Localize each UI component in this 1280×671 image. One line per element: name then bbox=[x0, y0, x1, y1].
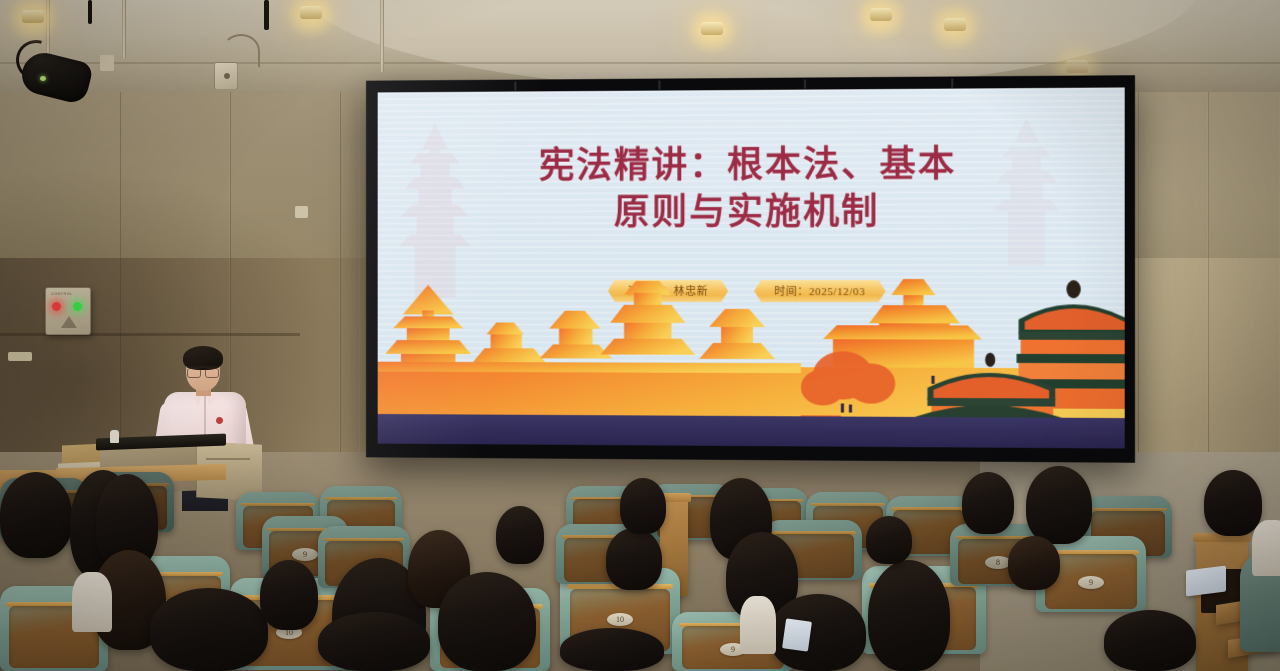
seat-number: 10 bbox=[607, 613, 633, 626]
slide-title: 宪法精讲：根本法、基本 原则与实施机制 bbox=[378, 140, 1125, 236]
hanging-rod-2 bbox=[122, 0, 126, 58]
seat-number: 9 bbox=[1078, 576, 1104, 589]
slide-title-line-1: 宪法精讲：根本法、基本 bbox=[539, 144, 956, 186]
microphone-base bbox=[110, 430, 119, 443]
audience-person bbox=[1204, 470, 1262, 536]
downlight-1 bbox=[18, 6, 48, 28]
audience-person bbox=[496, 506, 544, 564]
audience-person bbox=[560, 628, 664, 671]
audience-person bbox=[962, 472, 1014, 534]
audience-person bbox=[150, 588, 268, 671]
slide-base-strip bbox=[378, 414, 1125, 449]
wall-small-fixture bbox=[295, 206, 308, 218]
lapel-pin bbox=[216, 417, 223, 424]
audience-shoulders bbox=[72, 572, 112, 632]
warning-triangle-icon bbox=[61, 316, 77, 328]
audience-person bbox=[606, 528, 662, 590]
audience-person bbox=[260, 560, 318, 630]
ceiling-strip-2 bbox=[264, 0, 269, 30]
laptop-screen bbox=[1186, 566, 1226, 597]
wall-conduit bbox=[8, 352, 32, 361]
audience-person bbox=[318, 612, 430, 671]
wall-control-box[interactable]: CONTROL bbox=[45, 287, 91, 335]
audience-shoulders bbox=[740, 596, 776, 654]
audience-shoulders bbox=[1252, 520, 1280, 576]
audience-person bbox=[1104, 610, 1196, 671]
audience-person bbox=[620, 478, 666, 534]
slide-title-line-2: 原则与实施机制 bbox=[378, 188, 1125, 236]
audience-person bbox=[1008, 536, 1060, 590]
control-box-label: CONTROL bbox=[51, 291, 73, 296]
status-led-green bbox=[73, 302, 82, 311]
audience-person bbox=[0, 472, 72, 558]
glasses-icon bbox=[187, 366, 219, 374]
lecture-hall-scene: CONTROL bbox=[0, 0, 1280, 671]
downlight-3 bbox=[697, 18, 727, 40]
downlight-4 bbox=[866, 4, 896, 26]
podium-drawer-line bbox=[206, 458, 250, 460]
spotlight-indicator-led bbox=[40, 76, 46, 81]
audience-person bbox=[866, 516, 912, 564]
forbidden-city-skyline-artwork bbox=[378, 271, 1125, 449]
audience-person bbox=[438, 572, 536, 671]
audience-person bbox=[868, 560, 950, 671]
presentation-slide: 宪法精讲：根本法、基本 原则与实施机制 汇报人：林忠新 时间：2025/12/0… bbox=[378, 87, 1125, 448]
paper-notebook bbox=[782, 618, 812, 651]
seat-number: 9 bbox=[292, 548, 318, 561]
led-display-screen[interactable]: 宪法精讲：根本法、基本 原则与实施机制 汇报人：林忠新 时间：2025/12/0… bbox=[366, 75, 1135, 463]
wall-mounted-sensor-icon bbox=[214, 62, 238, 90]
ceiling-strip-1 bbox=[88, 0, 92, 24]
audience-person bbox=[1026, 466, 1092, 544]
downlight-2 bbox=[296, 2, 326, 24]
power-led-red bbox=[52, 302, 61, 311]
downlight-5 bbox=[940, 14, 970, 36]
hanging-rod-3 bbox=[380, 0, 384, 72]
wall-plate bbox=[100, 55, 114, 71]
